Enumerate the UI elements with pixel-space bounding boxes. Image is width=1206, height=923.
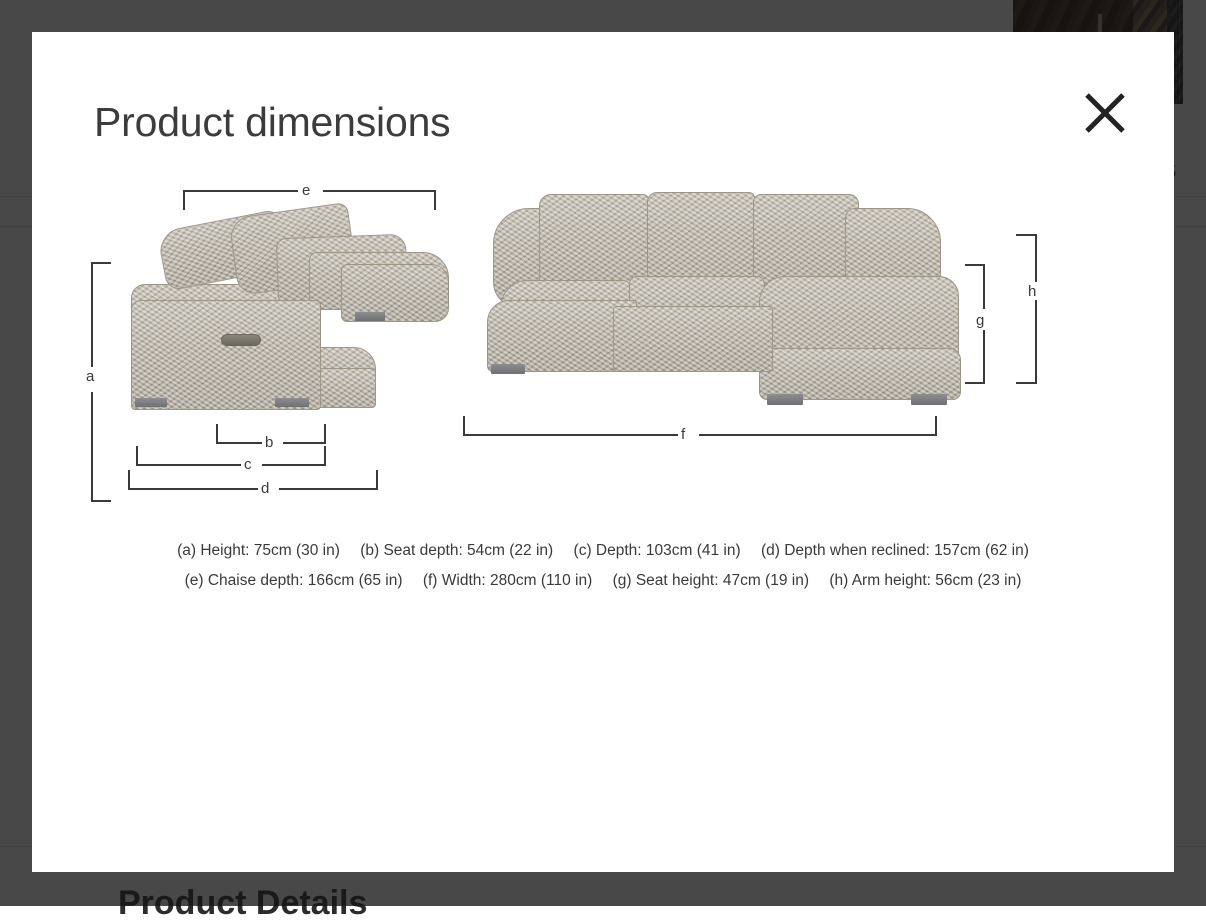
sofa-front-base-mid bbox=[613, 306, 773, 372]
dimensions-caption-block: (a) Height: 75cm (30 in) (b) Seat depth:… bbox=[103, 536, 1103, 596]
dimensions-caption-row-2: (e) Chaise depth: 166cm (65 in) (f) Widt… bbox=[103, 566, 1103, 596]
dimensions-diagram: e a b bbox=[73, 172, 1133, 532]
dimension-label-a: a bbox=[86, 369, 94, 384]
bracket-a-line-bottom bbox=[91, 392, 93, 502]
bracket-h-tick-bottom bbox=[1016, 382, 1036, 384]
bracket-d-tick-left bbox=[128, 470, 130, 489]
bracket-f-tick-right bbox=[935, 416, 937, 435]
bracket-d-tick-right bbox=[376, 470, 378, 489]
dimension-text-h: (h) Arm height: 56cm (23 in) bbox=[829, 572, 1021, 589]
bracket-b-line-right bbox=[283, 442, 326, 444]
bracket-a-line-top bbox=[91, 262, 93, 367]
close-icon bbox=[1080, 88, 1130, 138]
bracket-e-tick-left bbox=[183, 190, 185, 210]
bracket-f-line-left bbox=[463, 434, 678, 436]
bracket-d-line-left bbox=[128, 488, 258, 490]
sofa-side-foot-right bbox=[275, 398, 309, 407]
bracket-c-tick-right bbox=[324, 446, 326, 465]
dimension-text-b: (b) Seat depth: 54cm (22 in) bbox=[360, 542, 553, 559]
dimension-label-h: h bbox=[1028, 284, 1036, 299]
bracket-b-line-left bbox=[216, 442, 262, 444]
bracket-c-line-left bbox=[136, 464, 241, 466]
sofa-front-chaise-base bbox=[759, 348, 961, 400]
bracket-b-tick-right bbox=[324, 424, 326, 443]
product-dimensions-modal: Product dimensions e a bbox=[32, 32, 1174, 872]
bracket-g-line-bottom bbox=[983, 330, 985, 384]
bracket-a-tick-bottom bbox=[91, 500, 111, 502]
bracket-g-tick-top bbox=[965, 264, 984, 266]
bracket-c-line-right bbox=[262, 464, 326, 466]
sofa-front-foot-3 bbox=[911, 394, 947, 405]
dimension-text-d: (d) Depth when reclined: 157cm (62 in) bbox=[761, 542, 1029, 559]
dimension-text-g: (g) Seat height: 47cm (19 in) bbox=[613, 572, 809, 589]
dimension-label-g: g bbox=[976, 313, 984, 328]
sofa-side-foot-chaise bbox=[355, 312, 385, 321]
dimension-label-f: f bbox=[681, 427, 685, 442]
bracket-f-line-right bbox=[699, 434, 937, 436]
bracket-f-tick-left bbox=[463, 416, 465, 435]
sofa-front-view: g h f bbox=[453, 172, 1133, 502]
close-button[interactable] bbox=[1080, 88, 1130, 138]
bracket-e-line-left bbox=[183, 190, 298, 192]
bracket-c-tick-left bbox=[136, 446, 138, 465]
dimension-label-b: b bbox=[265, 435, 273, 450]
dimension-text-f: (f) Width: 280cm (110 in) bbox=[423, 572, 592, 589]
sofa-side-foot-left bbox=[135, 398, 167, 407]
bracket-h-line-top bbox=[1035, 234, 1037, 282]
dimension-label-c: c bbox=[244, 457, 252, 472]
dimension-label-d: d bbox=[261, 481, 269, 496]
bracket-h-tick-top bbox=[1016, 234, 1036, 236]
modal-header: Product dimensions bbox=[32, 32, 1174, 172]
dimension-label-e: e bbox=[302, 183, 310, 198]
sofa-front-foot-1 bbox=[491, 364, 525, 374]
bracket-e-tick-right bbox=[434, 190, 436, 210]
dimension-text-a: (a) Height: 75cm (30 in) bbox=[177, 542, 340, 559]
bracket-h-line-bottom bbox=[1035, 300, 1037, 384]
bracket-g-line-top bbox=[983, 264, 985, 309]
dimensions-caption-row-1: (a) Height: 75cm (30 in) (b) Seat depth:… bbox=[103, 536, 1103, 566]
bracket-e-line-right bbox=[323, 190, 436, 192]
recliner-control-icon bbox=[221, 334, 261, 346]
sofa-side-view: e a b bbox=[73, 172, 493, 502]
sofa-front-foot-2 bbox=[767, 394, 803, 405]
dimension-text-e: (e) Chaise depth: 166cm (65 in) bbox=[185, 572, 403, 589]
bracket-d-line-right bbox=[279, 488, 378, 490]
bracket-g-tick-bottom bbox=[965, 382, 984, 384]
bracket-b-tick-left bbox=[216, 424, 218, 443]
dimension-text-c: (c) Depth: 103cm (41 in) bbox=[574, 542, 741, 559]
bracket-a-tick-top bbox=[91, 262, 111, 264]
page-title: Product dimensions bbox=[94, 102, 450, 143]
sofa-side-arm-front bbox=[131, 300, 321, 410]
